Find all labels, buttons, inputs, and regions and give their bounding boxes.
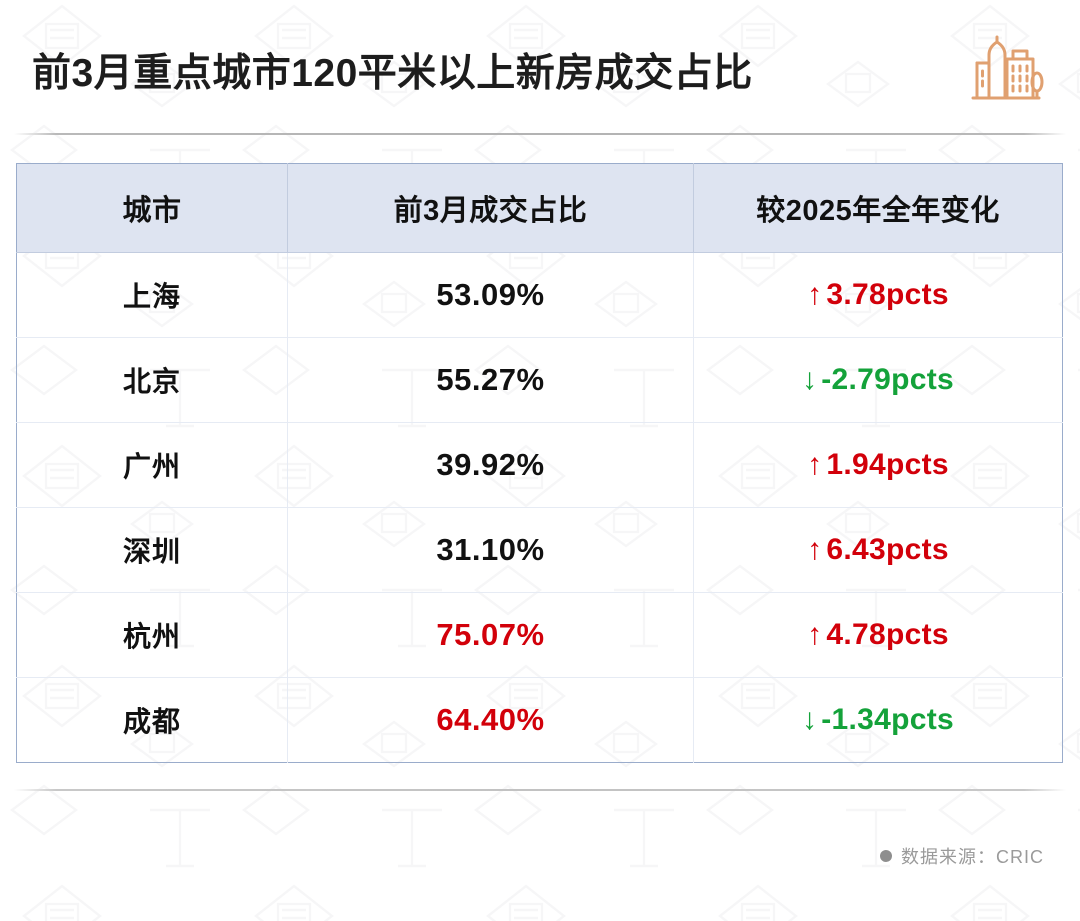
change-value: 6.43pcts <box>826 533 948 566</box>
table-row: 上海 53.09% ↑3.78pcts <box>17 253 1063 338</box>
footer-divider <box>14 789 1066 791</box>
cell-city: 成都 <box>17 678 288 763</box>
cell-share: 55.27% <box>288 338 694 423</box>
table-row: 广州 39.92% ↑1.94pcts <box>17 423 1063 508</box>
table-row: 深圳 31.10% ↑6.43pcts <box>17 508 1063 593</box>
change-value: 1.94pcts <box>826 448 948 481</box>
table-row: 杭州 75.07% ↑4.78pcts <box>17 593 1063 678</box>
cell-share: 64.40% <box>288 678 694 763</box>
column-header-share: 前3月成交占比 <box>288 164 694 253</box>
arrow-up-icon: ↑ <box>807 278 822 312</box>
column-header-change: 较2025年全年变化 <box>694 164 1063 253</box>
change-value: -1.34pcts <box>821 703 954 736</box>
change-value: -2.79pcts <box>821 363 954 396</box>
arrow-up-icon: ↑ <box>807 618 822 652</box>
cell-city: 广州 <box>17 423 288 508</box>
table-header: 城市 前3月成交占比 较2025年全年变化 <box>17 164 1063 253</box>
cell-change: ↑6.43pcts <box>694 508 1063 593</box>
cell-change: ↓-1.34pcts <box>694 678 1063 763</box>
cell-city: 杭州 <box>17 593 288 678</box>
cell-city: 深圳 <box>17 508 288 593</box>
stats-table: 城市 前3月成交占比 较2025年全年变化 上海 53.09% ↑3.78pct… <box>16 163 1063 763</box>
bullet-dot-icon <box>880 850 892 862</box>
cell-share: 39.92% <box>288 423 694 508</box>
page-title: 前3月重点城市120平米以上新房成交占比 <box>32 42 753 98</box>
arrow-up-icon: ↑ <box>807 448 822 482</box>
source-label: 数据来源：CRIC <box>901 843 1044 869</box>
column-header-city: 城市 <box>17 164 288 253</box>
change-value: 3.78pcts <box>826 278 948 311</box>
table-body: 上海 53.09% ↑3.78pcts 北京 55.27% ↓-2.79pcts… <box>17 253 1063 763</box>
arrow-up-icon: ↑ <box>807 533 822 567</box>
cell-city: 北京 <box>17 338 288 423</box>
table-row: 北京 55.27% ↓-2.79pcts <box>17 338 1063 423</box>
cell-share: 75.07% <box>288 593 694 678</box>
table-header-row: 城市 前3月成交占比 较2025年全年变化 <box>17 164 1063 253</box>
header-divider <box>14 133 1066 135</box>
source-note: 数据来源：CRIC <box>880 843 1044 869</box>
header: 前3月重点城市120平米以上新房成交占比 <box>0 0 1080 134</box>
cell-change: ↑4.78pcts <box>694 593 1063 678</box>
cell-city: 上海 <box>17 253 288 338</box>
cell-change: ↑1.94pcts <box>694 423 1063 508</box>
infographic-page: 前3月重点城市120平米以上新房成交占比 <box>0 0 1080 921</box>
change-value: 4.78pcts <box>826 618 948 651</box>
cell-share: 53.09% <box>288 253 694 338</box>
table-row: 成都 64.40% ↓-1.34pcts <box>17 678 1063 763</box>
arrow-down-icon: ↓ <box>802 703 817 737</box>
cell-change: ↑3.78pcts <box>694 253 1063 338</box>
cell-change: ↓-2.79pcts <box>694 338 1063 423</box>
cityscape-building-icon <box>967 33 1045 111</box>
arrow-down-icon: ↓ <box>802 363 817 397</box>
cell-share: 31.10% <box>288 508 694 593</box>
